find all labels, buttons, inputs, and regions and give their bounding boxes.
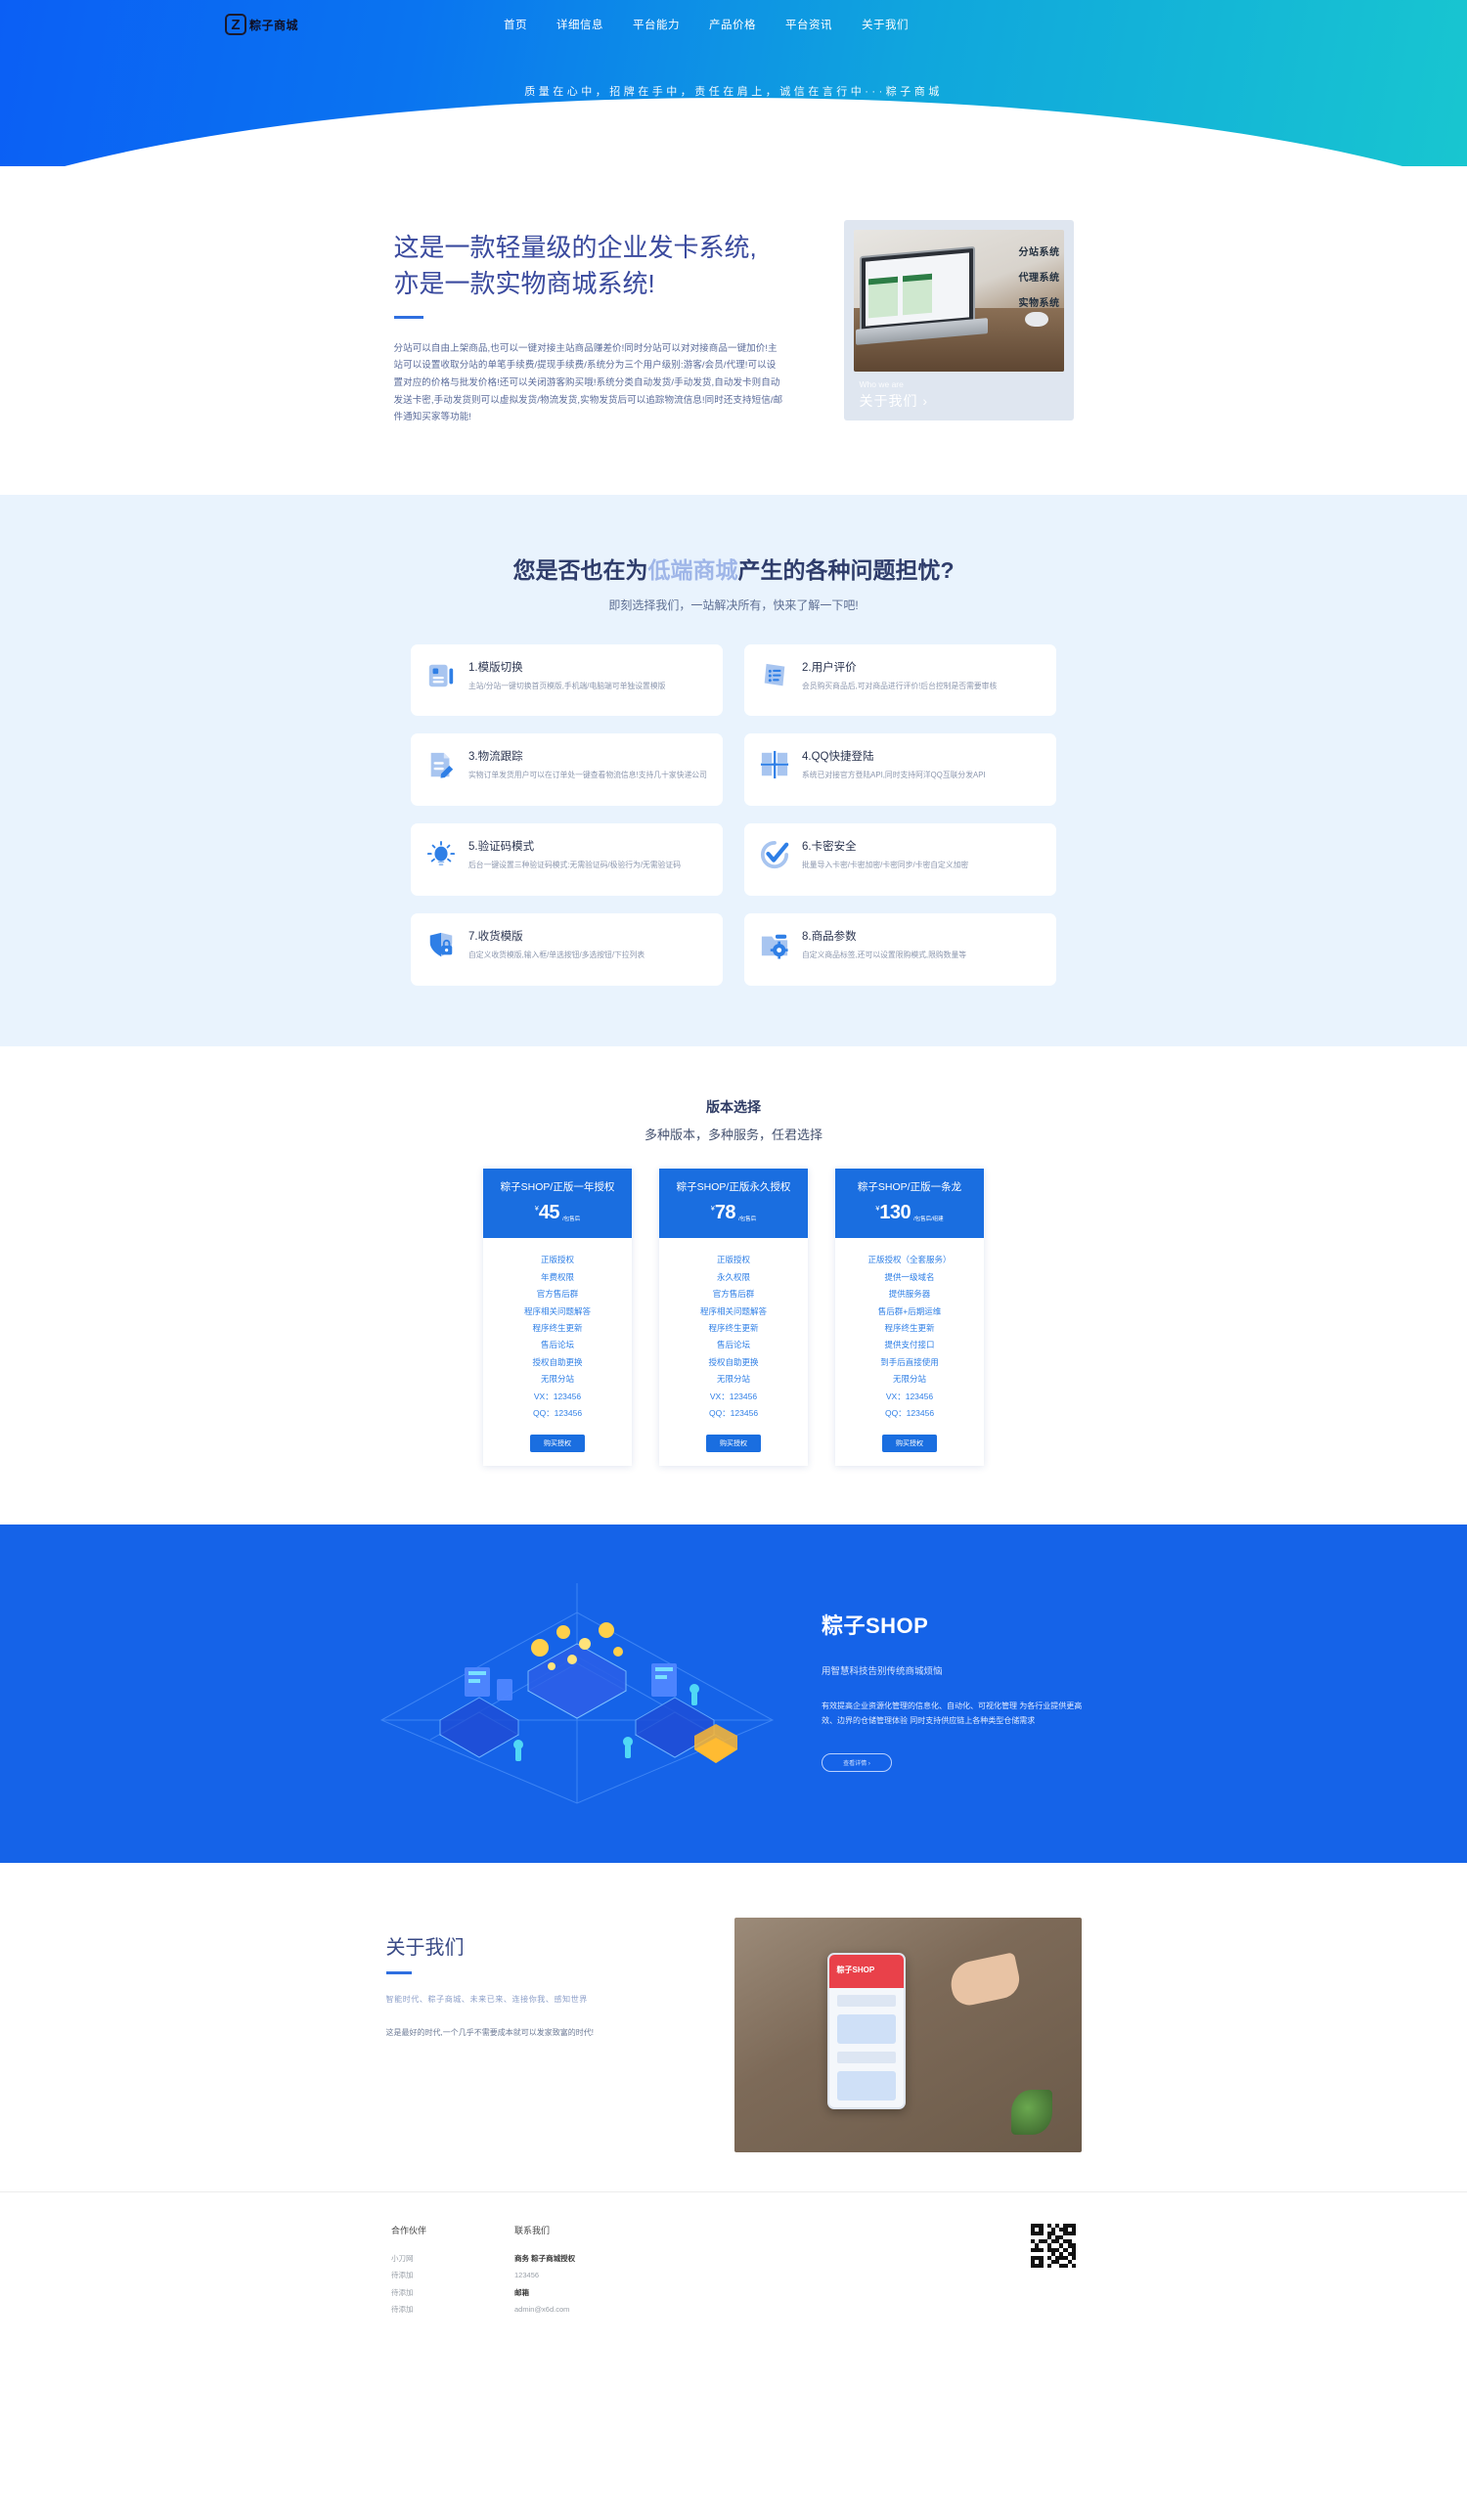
edit-document-icon (426, 750, 456, 779)
pricing-section: 版本选择 多种版本，多种服务，任君选择 粽子SHOP/正版一年授权 ¥ 45 /… (0, 1046, 1467, 1524)
feature-title: 1.模版切换 (468, 659, 665, 675)
features-title-b: 产生的各种问题担忧? (737, 557, 954, 583)
feature-card-template-switch[interactable]: 1.模版切换 主站/分站一键切换首页模版,手机端/电脑端可单独设置模版 (411, 644, 723, 717)
feature-desc: 主站/分站一键切换首页模版,手机端/电脑端可单独设置模版 (468, 681, 665, 693)
logo-z-icon: Z (225, 14, 246, 35)
pricing-title: 版本选择 (0, 1097, 1467, 1117)
phone-card (837, 2014, 896, 2044)
plan-card-one-year[interactable]: 粽子SHOP/正版一年授权 ¥ 45 /包售后 正版授权 年费权限 官方售后群 … (483, 1169, 632, 1465)
footer-column-partners: 合作伙伴 小刀网 待添加 待添加 待添加 (391, 2224, 426, 2320)
feature-title: 8.商品参数 (802, 928, 966, 944)
feature-title: 4.QQ快捷登陆 (802, 748, 986, 764)
laptop-photo: 分站系统 代理系统 实物系统 (854, 230, 1064, 372)
plan-feature: 永久权限 (665, 1269, 802, 1286)
plan-name: 粽子SHOP/正版一条龙 (843, 1180, 976, 1195)
promo-text-block: 粽子SHOP 用智慧科技告别传统商城烦恼 有效提高企业资源化管理的信息化、自动化… (822, 1609, 1095, 1772)
phone-row (837, 2052, 896, 2063)
feature-desc: 实物订单发货用户可以在订单处一键查看物流信息!支持几十家快递公司 (468, 770, 707, 782)
shield-lock-icon (426, 930, 456, 959)
price-period: /包售后 (562, 1215, 580, 1222)
plan-contact-vx: VX：123456 (665, 1389, 802, 1405)
footer-contact-qq: 123456 (514, 2267, 575, 2284)
nav-item-about[interactable]: 关于我们 (862, 17, 909, 32)
nav-item-details[interactable]: 详细信息 (556, 17, 603, 32)
promo-subheading: 用智慧科技告别传统商城烦恼 (822, 1663, 1095, 1677)
feature-card-user-review[interactable]: 2.用户评价 会员购买商品后,可对商品进行评价!后台控制是否需要审核 (744, 644, 1056, 717)
plan-feature: 到手后直接使用 (841, 1354, 978, 1371)
intro-heading-line2: 亦是一款实物商城系统! (394, 266, 785, 302)
features-subtitle: 即刻选择我们，一站解决所有，快来了解一下吧! (0, 597, 1467, 613)
promo-paragraph: 有效提高企业资源化管理的信息化、自动化、可视化管理 为各行业提供更高效、边界的仓… (822, 1699, 1095, 1728)
intro-divider (394, 316, 423, 319)
review-list-icon (760, 661, 789, 690)
feature-title: 7.收货模版 (468, 928, 645, 944)
plan-feature: 授权自助更换 (489, 1354, 626, 1371)
plan-header: 粽子SHOP/正版永久授权 ¥ 78 /包售后 (659, 1169, 808, 1238)
footer-contact-email[interactable]: admin@x6d.com (514, 2301, 575, 2319)
feature-title: 5.验证码模式 (468, 838, 681, 854)
plan-feature: 无限分站 (665, 1371, 802, 1388)
plan-feature: 程序终生更新 (841, 1320, 978, 1337)
plan-feature: 售后群+后期运维 (841, 1304, 978, 1320)
pricing-plans: 粽子SHOP/正版一年授权 ¥ 45 /包售后 正版授权 年费权限 官方售后群 … (0, 1169, 1467, 1465)
plan-card-full-service[interactable]: 粽子SHOP/正版一条龙 ¥ 130 /包售后/组建 正版授权（全套服务） 提供… (835, 1169, 984, 1465)
phone-row (837, 1995, 896, 2007)
footer-partner-item[interactable]: 待添加 (391, 2267, 426, 2284)
plant-decoration (1011, 2090, 1052, 2135)
feature-desc: 批量导入卡密/卡密加密/卡密同步/卡密自定义加密 (802, 860, 968, 872)
footer-col2-title: 联系我们 (514, 2224, 575, 2236)
buy-license-button[interactable]: 购买授权 (706, 1435, 761, 1452)
nav-item-platform[interactable]: 平台能力 (633, 17, 680, 32)
phone-card (837, 2071, 896, 2100)
buy-license-button[interactable]: 购买授权 (882, 1435, 937, 1452)
plan-feature: 程序相关问题解答 (665, 1304, 802, 1320)
intro-heading-line1: 这是一款轻量级的企业发卡系统, (394, 230, 785, 266)
plan-feature-list: 正版授权 年费权限 官方售后群 程序相关问题解答 程序终生更新 售后论坛 授权自… (483, 1238, 632, 1465)
pricing-subtitle: 多种版本，多种服务，任君选择 (0, 1125, 1467, 1143)
hand-illustration (947, 1952, 1023, 2009)
intro-paragraph: 分站可以自由上架商品,也可以一键对接主站商品赚差价!同时分站可以对对接商品一键加… (394, 340, 785, 426)
nav-item-pricing[interactable]: 产品价格 (709, 17, 756, 32)
site-footer: 合作伙伴 小刀网 待添加 待添加 待添加 联系我们 商务 粽子商城授权 1234… (0, 2191, 1467, 2359)
plan-price: ¥ 130 /包售后/组建 (843, 1202, 976, 1224)
site-logo[interactable]: Z 粽子商城 (225, 14, 298, 35)
footer-partner-item[interactable]: 待添加 (391, 2284, 426, 2302)
about-section: 关于我们 智能时代、粽子商城、未来已来、连接你我、感知世界 这是最好的时代,一个… (0, 1863, 1467, 2191)
plan-contact-qq: QQ：123456 (841, 1405, 978, 1422)
about-divider (386, 1971, 412, 1974)
feature-card-product-params[interactable]: 8.商品参数 自定义商品标签,还可以设置限购模式,限购数量等 (744, 913, 1056, 986)
features-section: 您是否也在为低端商城产生的各种问题担忧? 即刻选择我们，一站解决所有，快来了解一… (0, 495, 1467, 1046)
promo-section: 粽子SHOP 用智慧科技告别传统商城烦恼 有效提高企业资源化管理的信息化、自动化… (0, 1525, 1467, 1863)
plan-header: 粽子SHOP/正版一条龙 ¥ 130 /包售后/组建 (835, 1169, 984, 1238)
footer-col1-title: 合作伙伴 (391, 2224, 426, 2236)
photo-feature-labels: 分站系统 代理系统 实物系统 (1019, 243, 1060, 320)
feature-card-qq-login[interactable]: 4.QQ快捷登陆 系统已对接官方登陆API,同时支持阿洋QQ互联分发API (744, 733, 1056, 806)
footer-partner-item[interactable]: 待添加 (391, 2301, 426, 2319)
footer-contact-business: 商务 粽子商城授权 (514, 2250, 575, 2268)
plan-contact-vx: VX：123456 (841, 1389, 978, 1405)
plan-contact-qq: QQ：123456 (665, 1405, 802, 1422)
intro-section: 这是一款轻量级的企业发卡系统, 亦是一款实物商城系统! 分站可以自由上架商品,也… (0, 166, 1467, 495)
plan-feature-list: 正版授权（全套服务） 提供一级域名 提供服务器 售后群+后期运维 程序终生更新 … (835, 1238, 984, 1465)
feature-desc: 自定义商品标签,还可以设置限购模式,限购数量等 (802, 950, 966, 962)
plan-price: ¥ 45 /包售后 (491, 1202, 624, 1224)
plan-feature: 正版授权 (665, 1252, 802, 1268)
feature-card-card-security[interactable]: 6.卡密安全 批量导入卡密/卡密加密/卡密同步/卡密自定义加密 (744, 823, 1056, 896)
about-paragraph: 这是最好的时代,一个几乎不需要成本就可以发家致富的时代! (386, 2026, 680, 2040)
footer-partner-item[interactable]: 小刀网 (391, 2250, 426, 2268)
plan-feature-list: 正版授权 永久权限 官方售后群 程序相关问题解答 程序终生更新 售后论坛 授权自… (659, 1238, 808, 1465)
plan-name: 粽子SHOP/正版永久授权 (667, 1180, 800, 1195)
hero-slogan: 质量在心中，招牌在手中，责任在肩上，诚信在言行中···粽子商城 (0, 83, 1467, 99)
plan-contact-qq: QQ：123456 (489, 1405, 626, 1422)
feature-desc: 系统已对接官方登陆API,同时支持阿洋QQ互联分发API (802, 770, 986, 782)
plan-feature: 正版授权 (489, 1252, 626, 1268)
check-circle-icon (760, 840, 789, 869)
price-period: /包售后 (738, 1215, 756, 1222)
hero-title: 粽子商城SHOP (0, 111, 1467, 150)
phone-header: 粽子SHOP (829, 1955, 904, 1988)
about-photo: 粽子SHOP (734, 1918, 1082, 2152)
feature-desc: 后台一键设置三种验证码模式:无需验证码/极验行为/无需验证码 (468, 860, 681, 872)
price-period: /包售后/组建 (913, 1215, 944, 1222)
plan-card-permanent[interactable]: 粽子SHOP/正版永久授权 ¥ 78 /包售后 正版授权 永久权限 官方售后群 … (659, 1169, 808, 1465)
plan-feature: 售后论坛 (489, 1337, 626, 1353)
about-tagline: 智能时代、粽子商城、未来已来、连接你我、感知世界 (386, 1994, 680, 2005)
phone-mockup: 粽子SHOP (827, 1953, 906, 2109)
plan-feature: 官方售后群 (489, 1286, 626, 1303)
promo-heading: 粽子SHOP (822, 1609, 1095, 1640)
price-amount: 78 (715, 1202, 735, 1224)
main-navigation: Z 粽子商城 首页 详细信息 平台能力 产品价格 平台资讯 关于我们 (215, 0, 1252, 49)
plan-contact-vx: VX：123456 (489, 1389, 626, 1405)
plan-name: 粽子SHOP/正版一年授权 (491, 1180, 624, 1195)
feature-title: 3.物流跟踪 (468, 748, 707, 764)
grid-blocks-icon (760, 750, 789, 779)
plan-feature: 授权自助更换 (665, 1354, 802, 1371)
plan-feature: 无限分站 (841, 1371, 978, 1388)
document-icon (426, 661, 456, 690)
price-amount: 130 (879, 1202, 911, 1224)
photo-label-2: 代理系统 (1019, 269, 1060, 284)
plan-feature: 年费权限 (489, 1269, 626, 1286)
plan-feature: 程序相关问题解答 (489, 1304, 626, 1320)
features-title: 您是否也在为低端商城产生的各种问题担忧? (0, 552, 1467, 585)
isometric-tech-illustration (372, 1573, 782, 1808)
hero-header: Z 粽子商城 首页 详细信息 平台能力 产品价格 平台资讯 关于我们 质量在心中… (0, 0, 1467, 166)
feature-card-logistics[interactable]: 3.物流跟踪 实物订单发货用户可以在订单处一键查看物流信息!支持几十家快递公司 (411, 733, 723, 806)
photo-label-3: 实物系统 (1019, 294, 1060, 309)
promo-detail-button[interactable]: 查看详情 › (822, 1753, 892, 1772)
plan-feature: 售后论坛 (665, 1337, 802, 1353)
nav-item-home[interactable]: 首页 (504, 17, 527, 32)
card-cn-link[interactable]: 关于我们 › (860, 391, 1064, 411)
plan-feature: 官方售后群 (665, 1286, 802, 1303)
price-amount: 45 (539, 1202, 559, 1224)
nav-links: 首页 详细信息 平台能力 产品价格 平台资讯 关于我们 (504, 17, 909, 32)
feature-card-receive-template[interactable]: 7.收货模版 自定义收货模版,输入框/单选按钮/多选按钮/下拉列表 (411, 913, 723, 986)
features-title-em: 低端商城 (647, 557, 737, 583)
plan-feature: 提供一级域名 (841, 1269, 978, 1286)
plan-feature: 无限分站 (489, 1371, 626, 1388)
footer-contact-email-label: 邮箱 (514, 2284, 575, 2302)
feature-title: 6.卡密安全 (802, 838, 968, 854)
phone-app-title: 粽子SHOP (829, 1955, 904, 1975)
about-text-block: 关于我们 智能时代、粽子商城、未来已来、连接你我、感知世界 这是最好的时代,一个… (386, 1918, 680, 2152)
plan-header: 粽子SHOP/正版一年授权 ¥ 45 /包售后 (483, 1169, 632, 1238)
features-title-a: 您是否也在为 (512, 557, 647, 583)
feature-desc: 会员购买商品后,可对商品进行评价!后台控制是否需要审核 (802, 681, 997, 693)
plan-feature: 提供服务器 (841, 1286, 978, 1303)
nav-item-news[interactable]: 平台资讯 (785, 17, 832, 32)
footer-column-contact: 联系我们 商务 粽子商城授权 123456 邮箱 admin@x6d.com (514, 2224, 575, 2320)
plan-feature: 程序终生更新 (489, 1320, 626, 1337)
qr-code-icon (1031, 2224, 1076, 2269)
intro-text-block: 这是一款轻量级的企业发卡系统, 亦是一款实物商城系统! 分站可以自由上架商品,也… (394, 220, 785, 426)
about-title: 关于我们 (386, 1931, 680, 1960)
plan-feature: 正版授权（全套服务） (841, 1252, 978, 1268)
feature-desc: 自定义收货模版,输入框/单选按钮/多选按钮/下拉列表 (468, 950, 645, 962)
buy-license-button[interactable]: 购买授权 (530, 1435, 585, 1452)
plan-feature: 提供支付接口 (841, 1337, 978, 1353)
card-en-label: Who we are (860, 379, 1064, 389)
photo-label-1: 分站系统 (1019, 243, 1060, 258)
about-us-card[interactable]: 分站系统 代理系统 实物系统 Who we are 关于我们 › (844, 220, 1074, 420)
feature-card-captcha[interactable]: 5.验证码模式 后台一键设置三种验证码模式:无需验证码/极验行为/无需验证码 (411, 823, 723, 896)
plan-feature: 程序终生更新 (665, 1320, 802, 1337)
features-grid: 1.模版切换 主站/分站一键切换首页模版,手机端/电脑端可单独设置模版 2.用户… (411, 644, 1056, 986)
logo-text: 粽子商城 (249, 17, 298, 33)
plan-price: ¥ 78 /包售后 (667, 1202, 800, 1224)
folder-gear-icon (760, 930, 789, 959)
feature-title: 2.用户评价 (802, 659, 997, 675)
lightbulb-icon (426, 840, 456, 869)
